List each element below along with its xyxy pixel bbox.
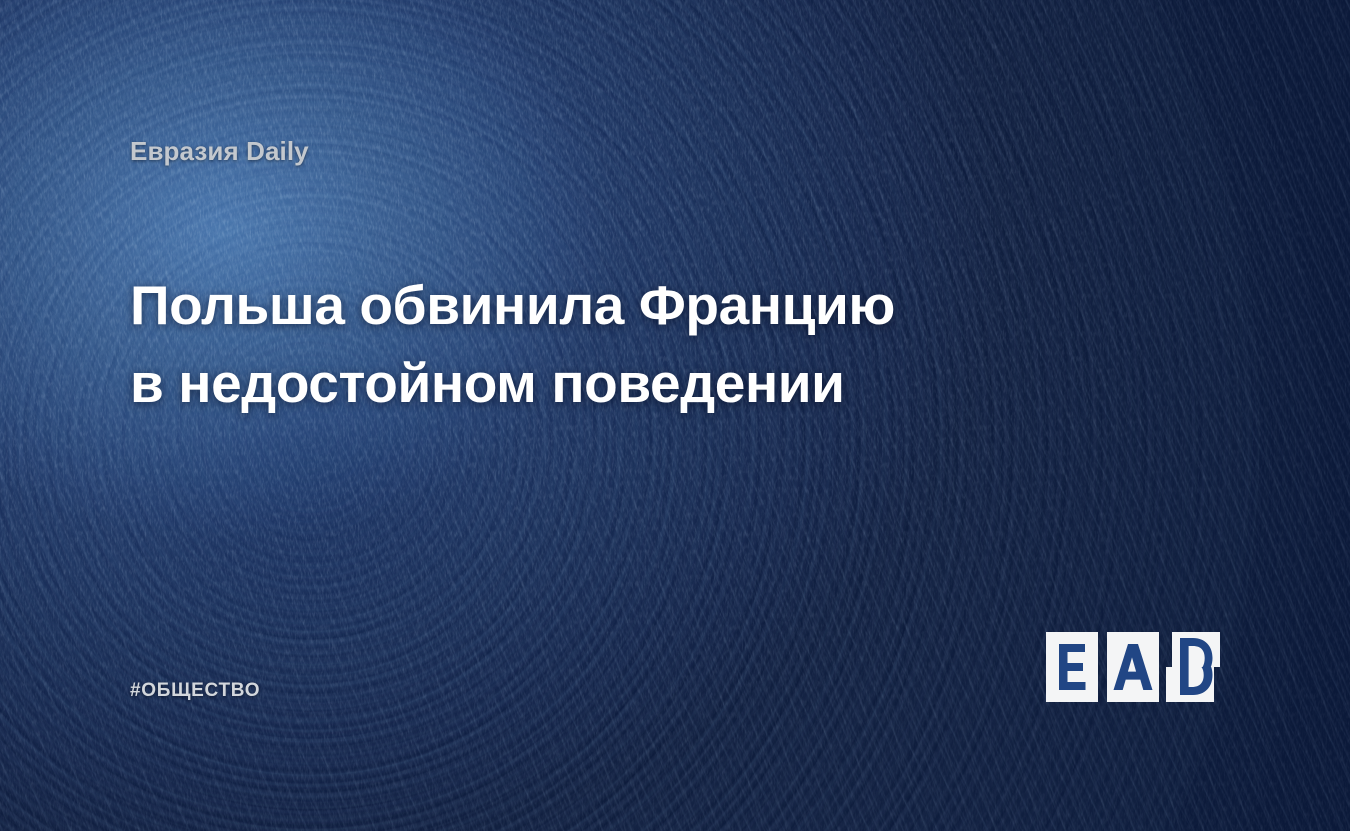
card-content: Евразия Daily Польша обвинила Францию в … [0,0,1350,831]
brand-name: Евразия Daily [130,136,309,167]
category-tag[interactable]: #ОБЩЕСТВО [130,680,260,702]
logo-tile-a-bg [1107,632,1159,702]
headline-line-1: Польша обвинила Францию [130,266,970,344]
eadaily-logo[interactable] [1046,632,1220,702]
logo-letter-e [1059,644,1086,690]
logo-tile-d-upper [1172,632,1220,670]
news-share-card: Евразия Daily Польша обвинила Францию в … [0,0,1350,831]
headline-line-2: в недостойном поведении [130,344,970,422]
page-title: Польша обвинила Францию в недостойном по… [130,266,970,422]
logo-tile-d-group [1166,632,1220,702]
eadaily-logo-mark [1046,632,1220,702]
